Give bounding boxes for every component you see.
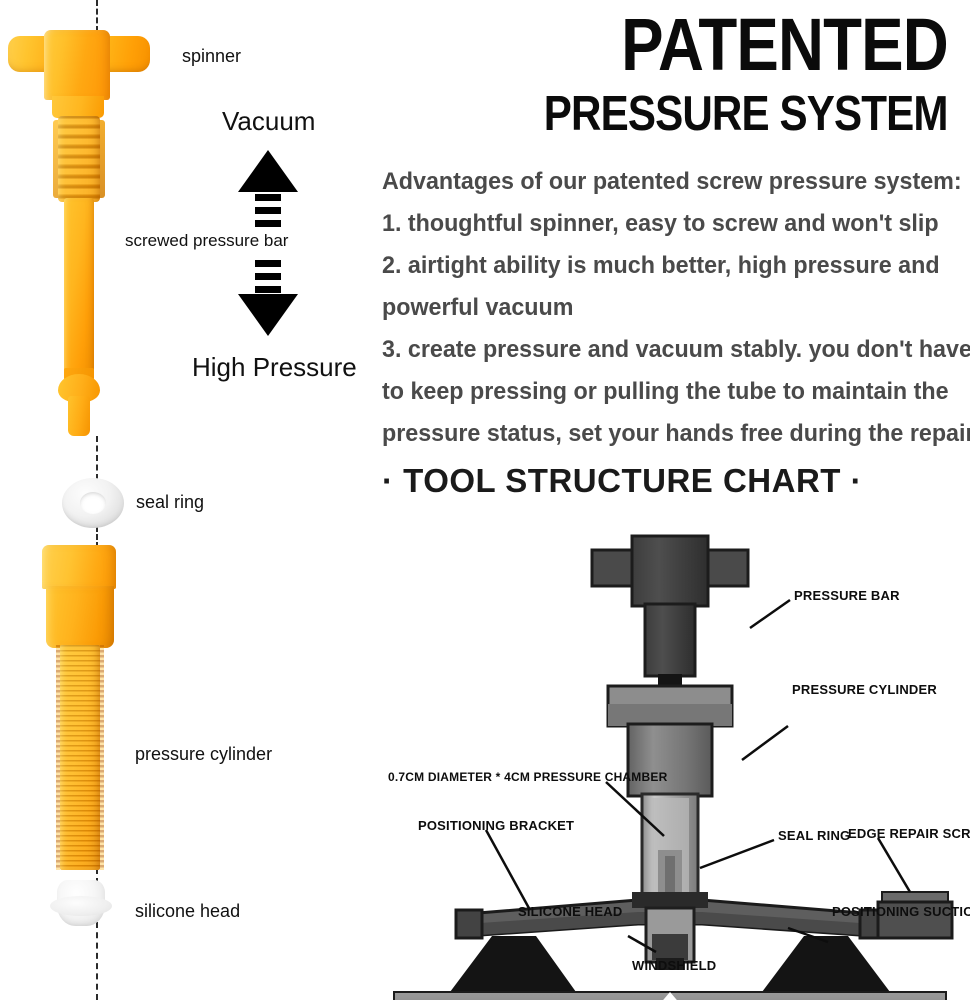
center-axis-line xyxy=(96,922,98,1000)
structure-chart-svg xyxy=(370,500,970,1000)
pressure-arrow-head-icon xyxy=(238,294,298,336)
sc-label-edge-repair-screw: EDGE REPAIR SCREW xyxy=(848,826,970,841)
sc-label-positioning-suction-cup: POSITIONING SUCTION CUP xyxy=(832,904,970,919)
spinner-wing-right xyxy=(104,36,150,72)
advantage-item: powerful vacuum xyxy=(382,294,573,322)
seal-ring-hole xyxy=(80,492,106,514)
sc-label-windshield: WINDSHIELD xyxy=(632,958,716,973)
headline-pressure-system: PRESSURE SYSTEM xyxy=(544,90,948,139)
pressure-bar-shaft xyxy=(64,198,94,376)
sc-label-positioning-bracket: POSITIONING BRACKET xyxy=(418,818,574,833)
tool-structure-chart-title: · TOOL STRUCTURE CHART · xyxy=(382,462,862,500)
spinner-cap xyxy=(44,30,110,100)
diagram-windshield xyxy=(394,992,946,1000)
cylinder-flange xyxy=(46,586,114,648)
label-screwed-pressure-bar: screwed pressure bar xyxy=(125,231,288,251)
diagram-spinner-handle xyxy=(592,536,748,606)
label-spinner: spinner xyxy=(182,46,241,67)
high-pressure-label: High Pressure xyxy=(192,352,357,383)
sc-label-pressure-cylinder: PRESSURE CYLINDER xyxy=(792,682,937,697)
advantage-item: 3. create pressure and vacuum stably. yo… xyxy=(382,336,970,364)
diagram-pressure-bar xyxy=(645,604,695,688)
diagram-pressure-chamber xyxy=(642,794,698,898)
advantage-item: 2. airtight ability is much better, high… xyxy=(382,252,940,280)
cylinder-cap xyxy=(42,545,116,589)
exploded-view-panel: spinner screwed pressure bar seal ring p… xyxy=(0,0,370,1000)
sc-label-pressure-chamber: 0.7CM DIAMETER * 4CM PRESSURE CHAMBER xyxy=(388,770,667,784)
silicone-head-flare xyxy=(50,896,112,916)
coarse-thread-collar xyxy=(58,116,100,202)
label-pressure-cylinder: pressure cylinder xyxy=(135,744,272,765)
sc-label-pressure-bar: PRESSURE BAR xyxy=(794,588,900,603)
advantage-item: pressure status, set your hands free dur… xyxy=(382,420,970,448)
pressure-arrow-dashes-icon xyxy=(255,260,281,294)
vacuum-arrow-head-icon xyxy=(238,150,298,192)
center-axis-line xyxy=(96,436,98,480)
advantages-intro: Advantages of our patented screw pressur… xyxy=(382,168,962,196)
center-axis-line xyxy=(96,0,98,32)
cylinder-threaded-body xyxy=(60,645,100,870)
spinner-neck xyxy=(52,96,104,118)
label-silicone-head: silicone head xyxy=(135,901,240,922)
infographic-page: spinner screwed pressure bar seal ring p… xyxy=(0,0,970,1000)
sc-label-seal-ring: SEAL RING xyxy=(778,828,850,843)
advantage-item: 1. thoughtful spinner, easy to screw and… xyxy=(382,210,939,238)
text-and-chart-panel: PATENTED PRESSURE SYSTEM Advantages of o… xyxy=(370,0,970,1000)
headline-patented: PATENTED xyxy=(621,8,948,82)
nozzle-tip xyxy=(68,396,90,436)
tool-structure-diagram: PRESSURE BAR PRESSURE CYLINDER 0.7CM DIA… xyxy=(370,500,970,1000)
vacuum-arrow-dashes-icon xyxy=(255,194,281,228)
label-seal-ring: seal ring xyxy=(136,492,204,513)
sc-label-silicone-head: SILICONE HEAD xyxy=(518,904,622,919)
advantage-item: to keep pressing or pulling the tube to … xyxy=(382,378,949,406)
vacuum-label: Vacuum xyxy=(222,106,315,137)
